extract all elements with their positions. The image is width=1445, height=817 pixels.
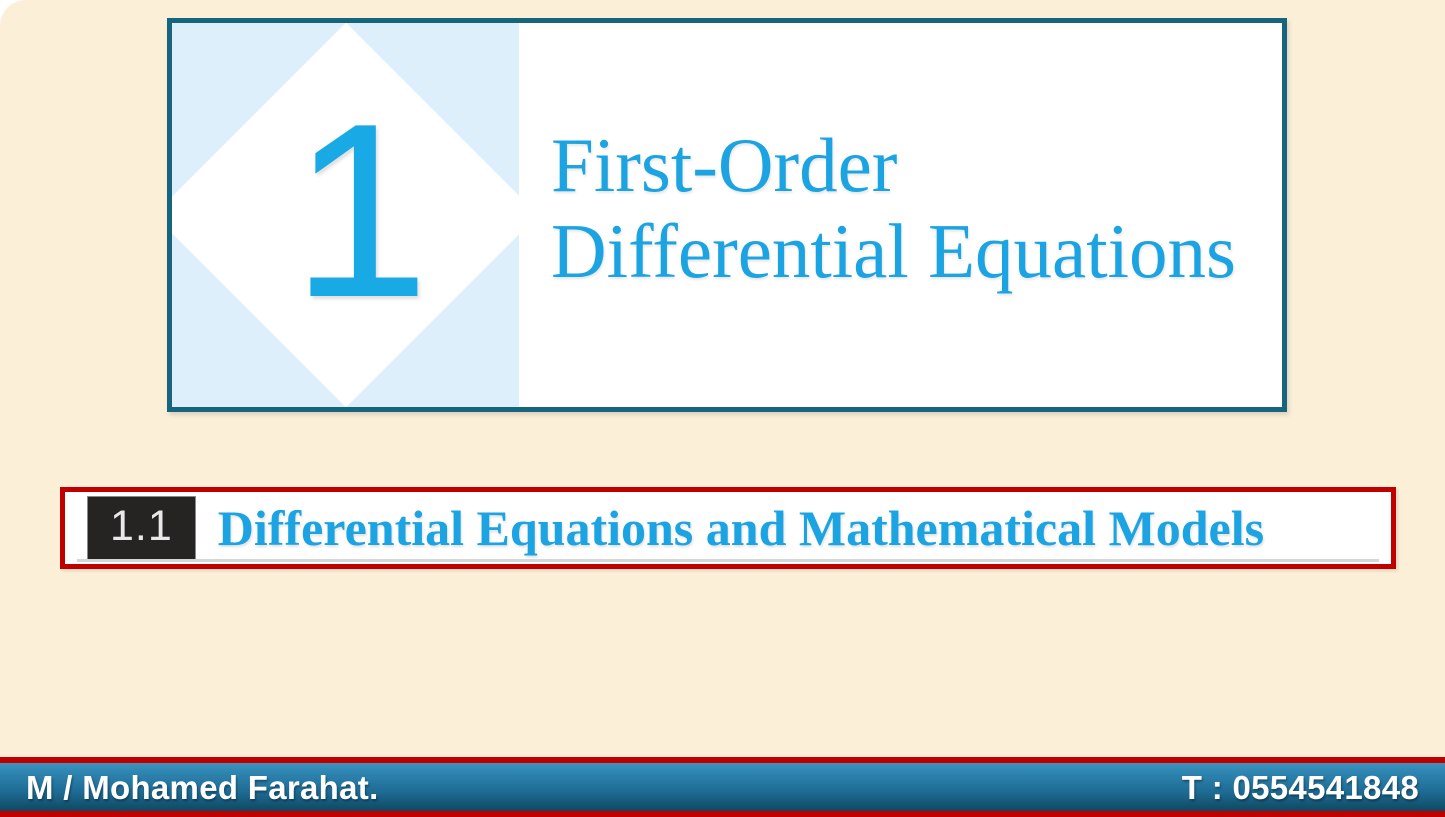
- section-heading-bar: 1.1 Differential Equations and Mathemati…: [60, 487, 1396, 569]
- slide-canvas: 1 First-Order Differential Equations 1.1…: [0, 0, 1445, 817]
- chapter-number: 1: [266, 86, 426, 344]
- chapter-number-panel: 1: [172, 23, 519, 407]
- chapter-title-line-2: Differential Equations: [551, 208, 1282, 294]
- footer-instructor-name: M / Mohamed Farahat.: [26, 771, 379, 804]
- chapter-title-card: 1 First-Order Differential Equations: [167, 18, 1287, 412]
- footer-bar: M / Mohamed Farahat. T : 0554541848: [0, 757, 1445, 817]
- chapter-title-line-1: First-Order: [551, 122, 1282, 208]
- section-bar-underline: [77, 559, 1379, 562]
- chapter-title-panel: First-Order Differential Equations: [519, 23, 1282, 407]
- section-title: Differential Equations and Mathematical …: [218, 503, 1264, 553]
- section-number-badge: 1.1: [87, 496, 196, 560]
- footer-phone-number: T : 0554541848: [1182, 771, 1419, 804]
